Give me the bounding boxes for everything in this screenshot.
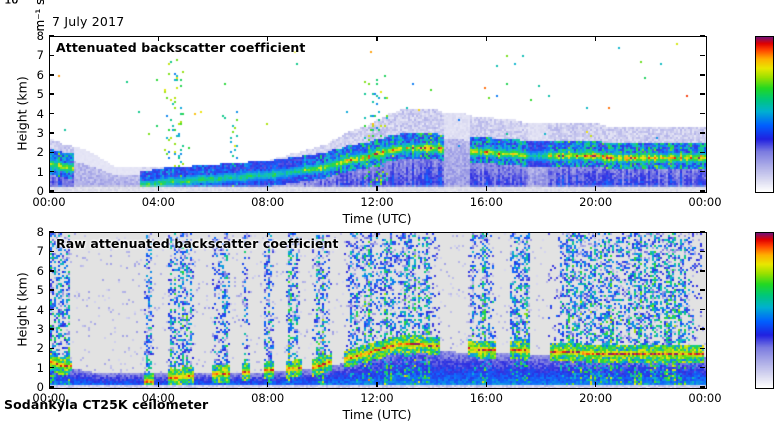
x-tick-label: 12:00 <box>349 195 405 209</box>
x-tick-label: 00:00 <box>21 195 77 209</box>
y-tick-label: 1 <box>20 361 44 375</box>
y-tick-mark <box>700 152 705 154</box>
x-tick-mark <box>595 382 597 387</box>
x-tick-mark <box>486 36 488 41</box>
y-tick-mark <box>49 152 54 154</box>
y-tick-mark <box>700 348 705 350</box>
colorbar-top <box>755 36 774 193</box>
date-label: 7 July 2017 <box>52 14 124 29</box>
y-tick-mark <box>49 309 54 311</box>
y-tick-label: 1 <box>20 165 44 179</box>
x-tick-mark <box>158 382 160 387</box>
heatmap-canvas-attenuated <box>50 37 706 192</box>
x-tick-label: 00:00 <box>677 391 733 405</box>
y-tick-mark <box>700 231 705 233</box>
x-tick-mark <box>595 186 597 191</box>
y-tick-mark <box>49 367 54 369</box>
y-tick-label: 7 <box>20 48 44 62</box>
y-axis-label-top: Height (km) <box>15 68 30 158</box>
x-tick-label: 04:00 <box>130 195 186 209</box>
y-tick-mark <box>700 55 705 57</box>
x-tick-mark <box>486 186 488 191</box>
panel-title-attenuated: Attenuated backscatter coefficient <box>56 40 306 55</box>
y-tick-mark <box>49 289 54 291</box>
x-tick-mark <box>595 232 597 237</box>
y-tick-mark <box>49 251 54 253</box>
y-tick-mark <box>700 289 705 291</box>
x-axis-label-top: Time (UTC) <box>337 211 417 226</box>
y-tick-mark <box>49 74 54 76</box>
x-tick-label: 20:00 <box>568 195 624 209</box>
panel-attenuated-backscatter: Attenuated backscatter coefficient <box>49 36 707 193</box>
y-tick-mark <box>700 113 705 115</box>
y-tick-mark <box>49 386 54 388</box>
x-tick-mark <box>595 36 597 41</box>
y-tick-mark <box>49 35 54 37</box>
x-tick-mark <box>267 186 269 191</box>
y-tick-mark <box>700 190 705 192</box>
y-tick-mark <box>49 132 54 134</box>
y-tick-mark <box>700 171 705 173</box>
y-tick-mark <box>49 113 54 115</box>
figure-caption: Sodankyla CT25K ceilometer <box>4 397 208 412</box>
x-tick-mark <box>486 232 488 237</box>
y-tick-mark <box>700 251 705 253</box>
y-tick-mark <box>49 328 54 330</box>
colorbar-gradient-top <box>756 37 773 192</box>
x-tick-label: 16:00 <box>458 391 514 405</box>
y-tick-mark <box>700 309 705 311</box>
x-tick-label: 12:00 <box>349 391 405 405</box>
y-tick-mark <box>700 328 705 330</box>
y-tick-mark <box>700 367 705 369</box>
colorbar-bottom <box>755 232 774 389</box>
y-tick-mark <box>700 132 705 134</box>
y-axis-label-bottom: Height (km) <box>15 264 30 354</box>
y-tick-mark <box>49 93 54 95</box>
x-tick-mark <box>486 382 488 387</box>
heatmap-canvas-raw <box>50 233 706 388</box>
x-tick-mark <box>376 382 378 387</box>
x-tick-mark <box>376 36 378 41</box>
y-tick-mark <box>49 348 54 350</box>
y-tick-mark <box>49 270 54 272</box>
y-tick-mark <box>700 74 705 76</box>
y-tick-mark <box>49 231 54 233</box>
y-tick-mark <box>700 93 705 95</box>
x-tick-label: 16:00 <box>458 195 514 209</box>
x-tick-mark <box>267 382 269 387</box>
panel-raw-attenuated-backscatter: Raw attenuated backscatter coefficient <box>49 232 707 389</box>
x-tick-label: 08:00 <box>240 195 296 209</box>
x-tick-label: 08:00 <box>240 391 296 405</box>
y-tick-mark <box>49 55 54 57</box>
ceilometer-figure: 7 July 2017 Attenuated backscatter coeff… <box>0 0 780 420</box>
y-tick-label: 8 <box>20 225 44 239</box>
x-tick-label: 20:00 <box>568 391 624 405</box>
x-tick-label: 00:00 <box>677 195 733 209</box>
colorbar-gradient-bottom <box>756 233 773 388</box>
colorbar-unit-label-bottom: m⁻¹ sr⁻¹ <box>33 0 47 47</box>
x-tick-mark <box>158 186 160 191</box>
y-tick-mark <box>700 35 705 37</box>
y-tick-label: 7 <box>20 244 44 258</box>
x-tick-mark <box>376 186 378 191</box>
y-tick-mark <box>700 270 705 272</box>
x-tick-mark <box>376 232 378 237</box>
y-tick-mark <box>700 386 705 388</box>
panel-title-raw: Raw attenuated backscatter coefficient <box>56 236 339 251</box>
y-tick-mark <box>49 190 54 192</box>
y-tick-mark <box>49 171 54 173</box>
colorbar-tick-label: 10−7 <box>0 0 30 7</box>
